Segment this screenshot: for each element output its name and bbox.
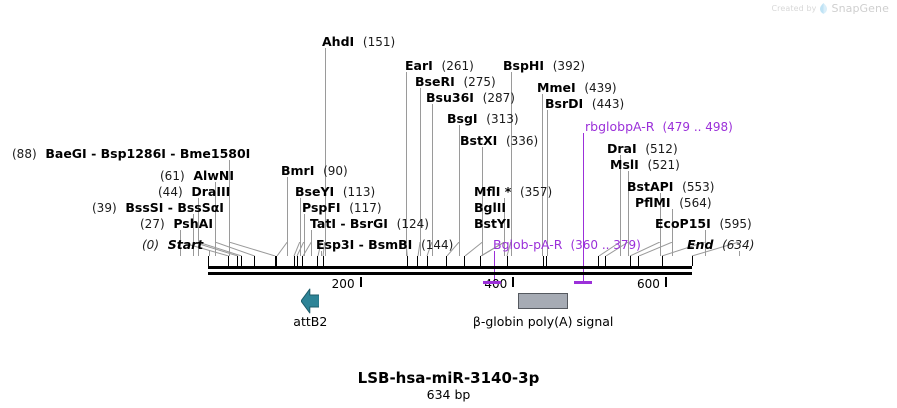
site-tick [507,256,508,266]
restriction-site-label-start[interactable]: (0) Start [142,238,203,252]
site-name: BseYI [295,184,334,199]
site-position: (564) [679,196,711,210]
site-tick [417,256,418,266]
site-tick [543,256,544,266]
site-tick [605,256,606,266]
primer-bar-rbglobpa-r-bar[interactable] [574,281,592,284]
site-tick [254,256,255,266]
snapgene-logo-icon [820,3,827,14]
site-tick [323,256,324,266]
primer-bar-bglob-pa-r-bar[interactable] [483,281,501,284]
site-name: BglII [474,200,506,215]
site-tick [276,256,277,266]
restriction-site-label-bsgi[interactable]: BsgI (313) [447,112,519,126]
primer-range: (479 .. 498) [662,120,732,134]
restriction-site-label-bsphi[interactable]: BspHI (392) [503,59,585,73]
leader-connector [275,242,289,256]
site-position: (61) [160,169,185,183]
site-position: (634) [722,238,754,252]
restriction-site-label-pspfi[interactable]: PspFI (117) [302,201,382,215]
sequence-map-root: Created by SnapGene (88) BaeGI - Bsp1286… [0,0,897,408]
site-position: (261) [442,59,474,73]
backbone-upper-line [208,266,692,269]
restriction-site-label-esp3i[interactable]: Esp3I - BsmBI (144) [316,238,453,252]
site-position: (151) [363,35,395,49]
leader-line [209,251,210,256]
site-name: Bsu36I [426,90,474,105]
site-name: BsgI [447,111,478,126]
site-tick [464,256,465,266]
primer-name: Bglob-pA-R [493,237,562,252]
site-tick [480,256,481,266]
restriction-site-label-pshai[interactable]: (27) PshAI [140,217,213,231]
site-tick [241,256,242,266]
site-tick [228,256,229,266]
site-position: (124) [397,217,429,231]
site-tick [302,256,303,266]
site-position: (144) [421,238,453,252]
site-tick [297,256,298,266]
site-name: DraIII [191,184,230,199]
site-name: Esp3I - BsmBI [316,237,412,252]
ruler-tick [360,277,362,287]
backbone-lower-line [208,272,692,275]
site-name: BsrDI [545,96,583,111]
site-name: EarI [405,58,433,73]
restriction-site-label-tati[interactable]: TatI - BsrGI (124) [310,217,429,231]
site-name: PspFI [302,200,341,215]
site-name: End [687,237,713,252]
restriction-site-label-drai[interactable]: DraI (512) [607,142,678,156]
snapgene-watermark: Created by SnapGene [771,2,889,15]
restriction-site-label-eari[interactable]: EarI (261) [405,59,474,73]
restriction-site-label-bsrdi[interactable]: BsrDI (443) [545,97,624,111]
site-name: DraI [607,141,637,156]
site-tick [598,256,599,266]
site-position: (313) [486,112,518,126]
primer-leader-line [583,133,584,281]
site-name: BstAPI [627,179,673,194]
site-position: (90) [323,164,348,178]
site-tick [237,256,238,266]
site-name: AhdI [322,34,354,49]
site-tick [407,256,408,266]
restriction-site-label-bseri[interactable]: BseRI (275) [415,75,496,89]
site-name: TatI - BsrGI [310,216,388,231]
ruler-label: 400 [484,277,507,291]
site-tick [662,256,663,266]
site-position: (287) [483,91,515,105]
site-name: AlwNI [193,168,234,183]
restriction-site-label-baegi[interactable]: (88) BaeGI - Bsp1286I - Bme1580I [12,147,250,161]
restriction-site-label-bsssi[interactable]: (39) BssSI - BssSαI [92,201,224,215]
ruler-label: 600 [637,277,660,291]
primer-label-bglob-pa-r[interactable]: Bglob-pA-R (360 .. 379) [493,238,641,252]
site-position: (357) [520,185,552,199]
primer-range: (360 .. 379) [570,238,640,252]
restriction-site-label-pflmi[interactable]: PflMI (564) [635,196,712,210]
site-tick [317,256,318,266]
restriction-site-label-bglii[interactable]: BglII [474,201,506,215]
leader-line [432,104,433,256]
site-name: BaeGI - Bsp1286I - Bme1580I [45,146,250,161]
site-name: MmeI [537,80,576,95]
site-name: PshAI [173,216,213,231]
primer-label-rbglobpa-r[interactable]: rbglobpA-R (479 .. 498) [585,120,733,134]
leader-connector [301,242,313,256]
ruler-tick [512,277,514,287]
site-position: (117) [349,201,381,215]
site-tick [294,256,295,266]
site-position: (39) [92,201,117,215]
site-name: EcoP15I [655,216,711,231]
feature-box-bglobin-polya[interactable] [518,293,568,309]
site-name: MslI [610,157,639,172]
site-position: (27) [140,217,165,231]
primer-name: rbglobpA-R [585,119,654,134]
site-name: PflMI [635,195,671,210]
restriction-site-label-bseyi[interactable]: BseYI (113) [295,185,375,199]
watermark-brand: SnapGene [831,2,889,15]
restriction-site-label-ahdi[interactable]: AhdI (151) [322,35,395,49]
site-tick [630,256,631,266]
site-name: BstXI [460,133,497,148]
site-name: BseRI [415,74,455,89]
site-position: (275) [463,75,495,89]
page-title: LSB-hsa-miR-3140-3p [0,369,897,387]
restriction-site-label-bstxi[interactable]: BstXI (336) [460,134,538,148]
site-name: MflI * [474,184,511,199]
site-position: (0) [142,238,159,252]
restriction-site-label-msli[interactable]: MslI (521) [610,158,680,172]
site-name: BstYI [474,216,511,231]
ruler-label: 200 [332,277,355,291]
site-position: (44) [158,185,183,199]
watermark-created-by: Created by [771,4,816,13]
leader-line [542,94,543,256]
restriction-site-label-bstapi[interactable]: BstAPI (553) [627,180,714,194]
restriction-site-label-bsu36i[interactable]: Bsu36I (287) [426,91,515,105]
site-position: (553) [682,180,714,194]
restriction-site-label-bmri[interactable]: BmrI (90) [281,164,348,178]
feature-arrow-attb2[interactable] [301,288,319,314]
feature-label-bglobin-polya: β-globin poly(A) signal [413,314,673,329]
site-name: BmrI [281,163,314,178]
site-position: (443) [592,97,624,111]
site-position: (512) [645,142,677,156]
site-position: (392) [553,59,585,73]
site-position: (336) [506,134,538,148]
site-position: (113) [343,185,375,199]
site-position: (595) [719,217,751,231]
site-tick [427,256,428,266]
restriction-site-label-ecop15i[interactable]: EcoP15I (595) [655,217,752,231]
site-tick [692,256,693,266]
sequence-length: 634 bp [0,387,897,402]
feature-label-attb2: attB2 [180,314,440,329]
restriction-site-label-mfli[interactable]: MflI * (357) [474,185,552,199]
restriction-site-label-end[interactable]: End (634) [687,238,754,252]
leader-line [547,110,548,256]
site-name: Start [168,237,204,252]
site-tick [546,256,547,266]
site-position: (88) [12,147,37,161]
site-position: (439) [584,81,616,95]
site-tick [208,256,209,266]
restriction-site-label-bstyi[interactable]: BstYI [474,217,511,231]
ruler-tick [665,277,667,287]
site-tick [446,256,447,266]
restriction-site-label-mmei[interactable]: MmeI (439) [537,81,617,95]
site-name: BspHI [503,58,544,73]
site-name: BssSI - BssSαI [125,200,224,215]
site-position: (521) [648,158,680,172]
restriction-site-label-draiii[interactable]: (44) DraIII [158,185,230,199]
site-tick [638,256,639,266]
restriction-site-label-alwni[interactable]: (61) AlwNI [160,169,234,183]
